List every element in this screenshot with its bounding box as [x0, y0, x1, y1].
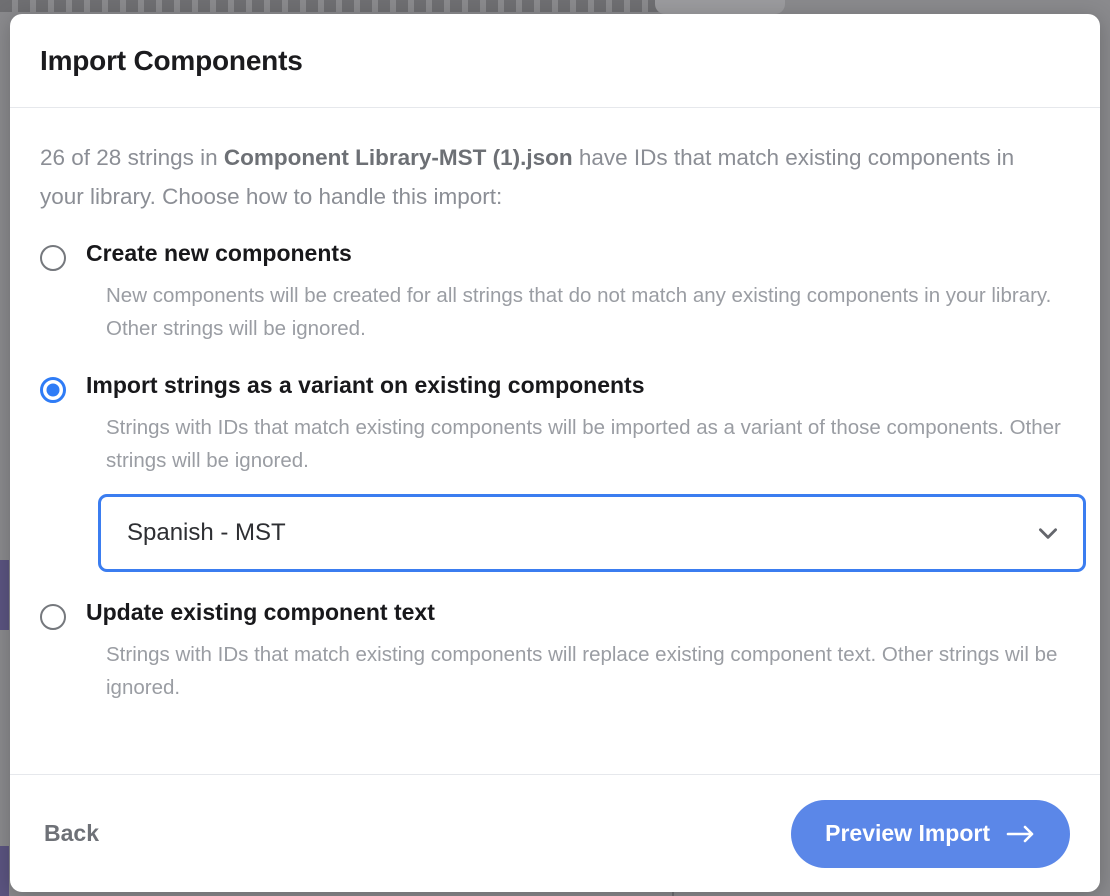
option-description: Strings with IDs that match existing com…: [106, 411, 1070, 477]
option-import-as-variant: Import strings as a variant on existing …: [40, 371, 1070, 571]
option-create-new-components: Create new components New components wil…: [40, 239, 1070, 345]
variant-select[interactable]: Spanish - MST: [98, 494, 1086, 572]
dialog-body: 26 of 28 strings in Component Library-MS…: [10, 108, 1100, 774]
preview-import-button[interactable]: Preview Import: [791, 800, 1070, 868]
variant-select-value: Spanish - MST: [127, 519, 1035, 547]
import-filename: Component Library-MST (1).json: [224, 145, 573, 170]
backdrop-sidebar-accent-lower: [0, 846, 9, 896]
option-label: Import strings as a variant on existing …: [86, 371, 645, 400]
option-label: Create new components: [86, 239, 352, 268]
radio-create-new-components[interactable]: [40, 245, 66, 271]
backdrop-tab-shape: [655, 0, 785, 14]
dialog-footer: Back Preview Import: [10, 774, 1100, 892]
import-summary-text: 26 of 28 strings in Component Library-MS…: [40, 138, 1040, 217]
option-label: Update existing component text: [86, 598, 435, 627]
backdrop-tab-strip: [0, 0, 660, 12]
import-summary-prefix: 26 of 28 strings in: [40, 145, 224, 170]
import-components-dialog: Import Components 26 of 28 strings in Co…: [10, 14, 1100, 892]
back-button[interactable]: Back: [40, 814, 103, 853]
chevron-down-icon: [1035, 520, 1061, 546]
option-description: New components will be created for all s…: [106, 279, 1070, 345]
preview-import-label: Preview Import: [825, 820, 990, 847]
page-title: Import Components: [40, 45, 303, 77]
option-row[interactable]: Import strings as a variant on existing …: [40, 371, 1070, 403]
option-update-existing-text: Update existing component text Strings w…: [40, 598, 1070, 704]
option-description: Strings with IDs that match existing com…: [106, 638, 1070, 704]
radio-update-existing-text[interactable]: [40, 604, 66, 630]
radio-import-as-variant[interactable]: [40, 377, 66, 403]
arrow-right-icon: [1006, 825, 1036, 843]
backdrop-sidebar-accent: [0, 560, 9, 630]
option-row[interactable]: Update existing component text: [40, 598, 1070, 630]
dialog-header: Import Components: [10, 14, 1100, 108]
option-row[interactable]: Create new components: [40, 239, 1070, 271]
